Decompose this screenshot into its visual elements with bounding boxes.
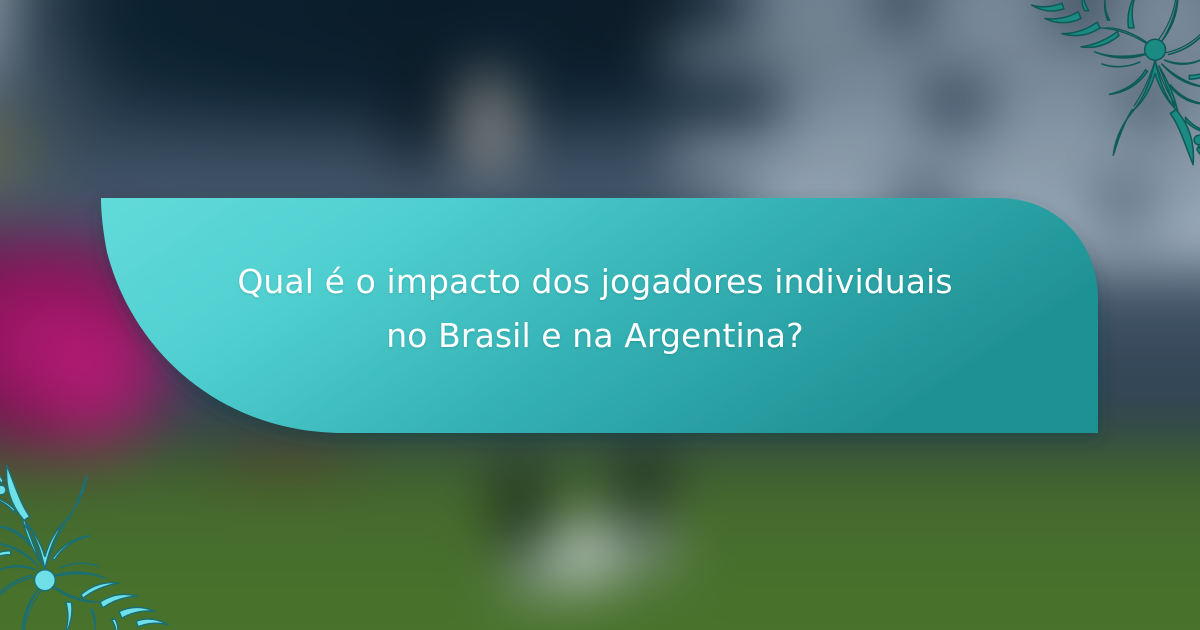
share-card: Qual é o impacto dos jogadores individua… [0, 0, 1200, 630]
floral-corner-ornament-icon [0, 452, 176, 630]
background-photo [0, 0, 1200, 630]
floral-corner-ornament-icon [1024, 0, 1200, 178]
background-tone-overlay [0, 0, 1200, 630]
